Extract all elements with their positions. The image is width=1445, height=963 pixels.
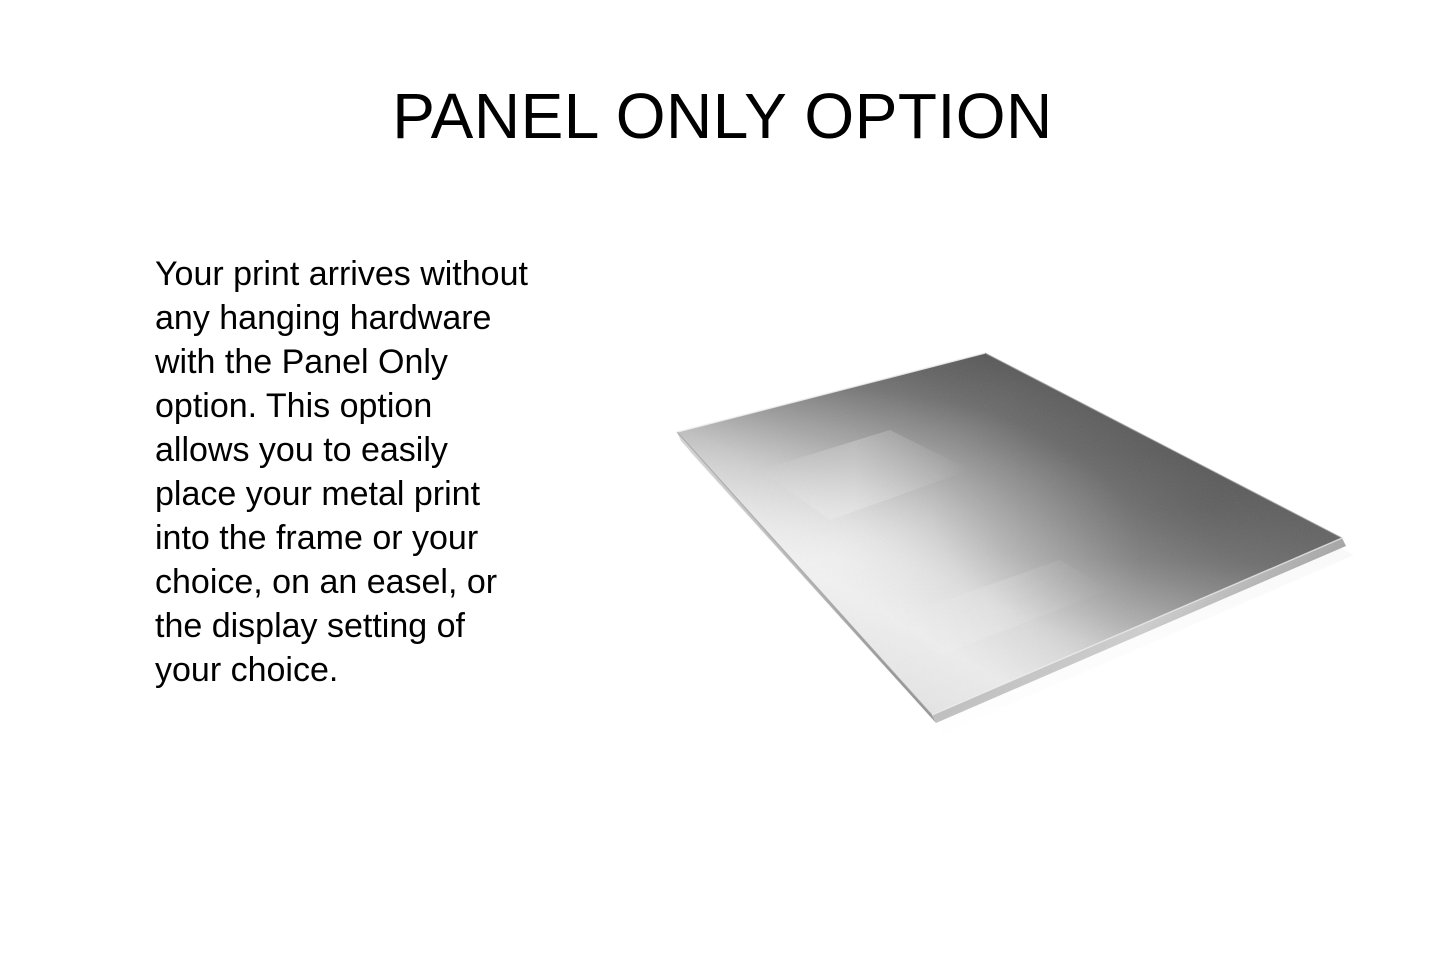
metal-panel-image bbox=[640, 320, 1380, 750]
page-title: PANEL ONLY OPTION bbox=[0, 80, 1445, 152]
panel-face-grain bbox=[677, 353, 1342, 715]
metal-panel-svg bbox=[640, 320, 1380, 750]
body-line: your choice. bbox=[155, 648, 585, 692]
body-line: Your print arrives without bbox=[155, 252, 585, 296]
body-line: place your metal print bbox=[155, 472, 585, 516]
body-line: with the Panel Only bbox=[155, 340, 585, 384]
slide-canvas: PANEL ONLY OPTION Your print arrives wit… bbox=[0, 0, 1445, 963]
body-line: any hanging hardware bbox=[155, 296, 585, 340]
body-line: allows you to easily bbox=[155, 428, 585, 472]
body-line: option. This option bbox=[155, 384, 585, 428]
body-line: choice, on an easel, or bbox=[155, 560, 585, 604]
body-line: into the frame or your bbox=[155, 516, 585, 560]
body-paragraph: Your print arrives without any hanging h… bbox=[155, 252, 585, 692]
body-line: the display setting of bbox=[155, 604, 585, 648]
